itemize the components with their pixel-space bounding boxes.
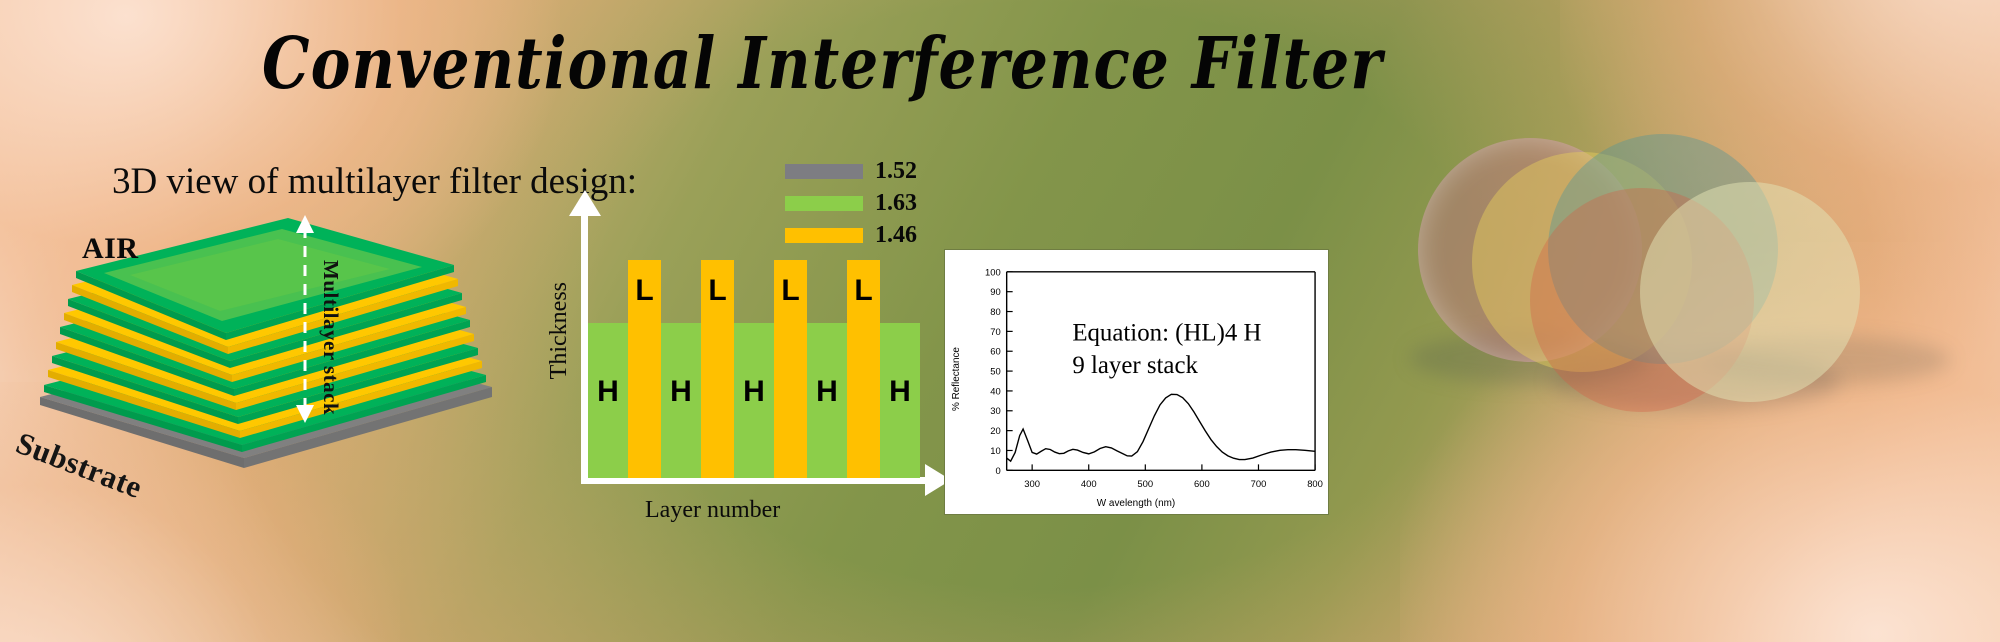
bar-label: H — [816, 375, 838, 409]
bar-label: H — [889, 375, 911, 409]
axis-tick-label: 90 — [990, 286, 1000, 297]
y-axis — [581, 212, 588, 484]
bar-label: H — [743, 375, 765, 409]
bar-label: L — [781, 274, 799, 308]
axis-tick-label: 70 — [990, 326, 1000, 337]
disc-pale — [1640, 182, 1860, 402]
diagram-caption: 3D view of multilayer filter design: — [112, 160, 637, 203]
bar-label: L — [635, 274, 653, 308]
axis-tick-label: 700 — [1251, 478, 1267, 489]
reflectance-plot-svg: 0102030405060708090100300400500600700800… — [945, 250, 1328, 514]
legend-value: 1.52 — [875, 158, 917, 185]
reflectance-spectrum-inset: 0102030405060708090100300400500600700800… — [944, 249, 1329, 515]
axis-tick-label: 60 — [990, 346, 1000, 357]
bar-l: L — [847, 260, 880, 478]
axis-tick-label: 30 — [990, 405, 1000, 416]
bar-label: L — [708, 274, 726, 308]
axis-tick-label: 800 — [1307, 478, 1323, 489]
axis-tick-label: 50 — [990, 366, 1000, 377]
bar-l: L — [774, 260, 807, 478]
bar-label: L — [854, 274, 872, 308]
page-title: Conventional Interference Filter — [262, 22, 1383, 105]
bar-l: L — [628, 260, 661, 478]
axis-tick-label: 40 — [990, 385, 1000, 396]
axis-tick-label: 0 — [995, 465, 1000, 476]
axis-tick-label: 300 — [1024, 478, 1040, 489]
layer-thickness-bar-chart: HLHLHLHLH Thickness Layer number — [555, 212, 955, 492]
axis-tick-label: 400 — [1081, 478, 1097, 489]
legend-item: 1.52 — [785, 160, 917, 183]
bar-chart-x-label: Layer number — [645, 497, 780, 524]
bar-h: H — [880, 323, 920, 478]
legend-swatch-high-index — [785, 196, 863, 211]
equation-annotation-2: 9 layer stack — [1072, 352, 1198, 379]
bar-h: H — [588, 323, 628, 478]
axis-tick-label: 20 — [990, 425, 1000, 436]
air-label: AIR — [82, 232, 139, 266]
bar-h: H — [661, 323, 701, 478]
axis-tick-label: 100 — [985, 266, 1001, 277]
filter-discs-decoration — [1400, 120, 1960, 460]
bar-label: H — [597, 375, 619, 409]
poster-canvas: Conventional Interference Filter 3D view… — [0, 0, 2000, 642]
bar-l: L — [701, 260, 734, 478]
legend-swatch-substrate-index — [785, 164, 863, 179]
equation-annotation-1: Equation: (HL)4 H — [1072, 319, 1261, 346]
axis-tick-label: 10 — [990, 445, 1000, 456]
axis-tick-label: 500 — [1137, 478, 1153, 489]
axis-tick-label: 80 — [990, 306, 1000, 317]
bar-group: HLHLHLHLH — [588, 248, 920, 478]
bar-h: H — [807, 323, 847, 478]
bar-h: H — [734, 323, 774, 478]
bar-label: H — [670, 375, 692, 409]
plot-y-axis-label: % Reflectance — [951, 347, 962, 411]
axis-tick-label: 600 — [1194, 478, 1210, 489]
bar-chart-y-label: Thickness — [546, 282, 573, 379]
x-axis — [581, 477, 931, 484]
multilayer-stack-label: Multilayer stack — [318, 260, 343, 415]
plot-x-axis-label: W avelength (nm) — [1097, 498, 1175, 509]
